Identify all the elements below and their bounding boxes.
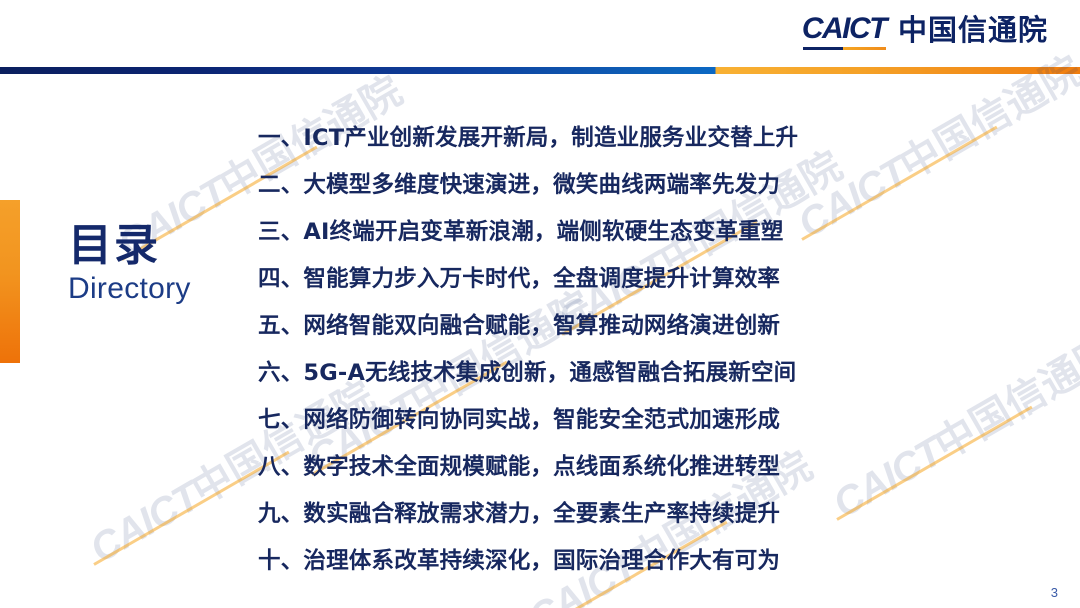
toc-item-3[interactable]: 三、 AI终端开启变革新浪潮，端侧软硬生态变革重塑 xyxy=(258,206,898,253)
logo-mark: CAICT xyxy=(802,14,886,50)
toc-item-number: 六、 xyxy=(258,355,303,387)
toc-item-number: 五、 xyxy=(258,308,303,340)
toc-item-4[interactable]: 四、 智能算力步入万卡时代，全盘调度提升计算效率 xyxy=(258,253,898,300)
header-gradient-rule xyxy=(0,67,1080,74)
toc-item-9[interactable]: 九、 数实融合释放需求潜力，全要素生产率持续提升 xyxy=(258,488,898,535)
page-title: 目录 xyxy=(68,222,191,270)
toc-item-label: 智能算力步入万卡时代，全盘调度提升计算效率 xyxy=(303,261,780,293)
toc-item-10[interactable]: 十、 治理体系改革持续深化，国际治理合作大有可为 xyxy=(258,535,898,582)
toc-item-label: 数字技术全面规模赋能，点线面系统化推进转型 xyxy=(303,449,780,481)
slide-header: CAICT 中国信通院 xyxy=(0,0,1080,68)
logo-underline xyxy=(803,47,886,51)
toc-item-number: 三、 xyxy=(258,214,303,246)
toc-item-number: 二、 xyxy=(258,167,303,199)
toc-item-number: 九、 xyxy=(258,496,303,528)
toc-item-number: 一、 xyxy=(258,120,303,152)
toc-item-7[interactable]: 七、 网络防御转向协同实战，智能安全范式加速形成 xyxy=(258,394,898,441)
toc-item-label: 5G-A无线技术集成创新，通感智融合拓展新空间 xyxy=(303,355,796,387)
watermark-cn: 中国信通院 xyxy=(927,328,1080,469)
left-accent-tab xyxy=(0,200,20,363)
toc-item-label: ICT产业创新发展开新局，制造业服务业交替上升 xyxy=(303,120,798,152)
toc-item-number: 八、 xyxy=(258,449,303,481)
toc-item-1[interactable]: 一、 ICT产业创新发展开新局，制造业服务业交替上升 xyxy=(258,112,898,159)
toc-item-label: AI终端开启变革新浪潮，端侧软硬生态变革重塑 xyxy=(303,214,783,246)
logo-chinese-text: 中国信通院 xyxy=(898,16,1048,50)
toc-item-label: 数实融合释放需求潜力，全要素生产率持续提升 xyxy=(303,496,780,528)
table-of-contents: 一、 ICT产业创新发展开新局，制造业服务业交替上升 二、 大模型多维度快速演进… xyxy=(258,112,898,582)
logo-latin-text: CAICT xyxy=(802,12,886,45)
toc-item-2[interactable]: 二、 大模型多维度快速演进，微笑曲线两端率先发力 xyxy=(258,159,898,206)
toc-item-label: 网络防御转向协同实战，智能安全范式加速形成 xyxy=(303,402,780,434)
toc-item-6[interactable]: 六、 5G-A无线技术集成创新，通感智融合拓展新空间 xyxy=(258,347,898,394)
directory-title-block: 目录 Directory xyxy=(68,222,191,306)
toc-item-label: 大模型多维度快速演进，微笑曲线两端率先发力 xyxy=(303,167,780,199)
slide-canvas: CAICT中国信通院 CAICT中国信通院 CAICT中国信通院 CAICT中国… xyxy=(0,0,1080,608)
page-number: 3 xyxy=(1051,585,1058,600)
toc-item-number: 十、 xyxy=(258,543,303,575)
toc-item-number: 七、 xyxy=(258,402,303,434)
toc-item-5[interactable]: 五、 网络智能双向融合赋能，智算推动网络演进创新 xyxy=(258,300,898,347)
toc-item-label: 治理体系改革持续深化，国际治理合作大有可为 xyxy=(303,543,780,575)
toc-item-8[interactable]: 八、 数字技术全面规模赋能，点线面系统化推进转型 xyxy=(258,441,898,488)
toc-item-number: 四、 xyxy=(258,261,303,293)
watermark-latin: CAICT xyxy=(83,475,207,572)
page-subtitle: Directory xyxy=(68,272,191,307)
caict-logo: CAICT 中国信通院 xyxy=(802,14,1048,50)
toc-item-label: 网络智能双向融合赋能，智算推动网络演进创新 xyxy=(303,308,780,340)
